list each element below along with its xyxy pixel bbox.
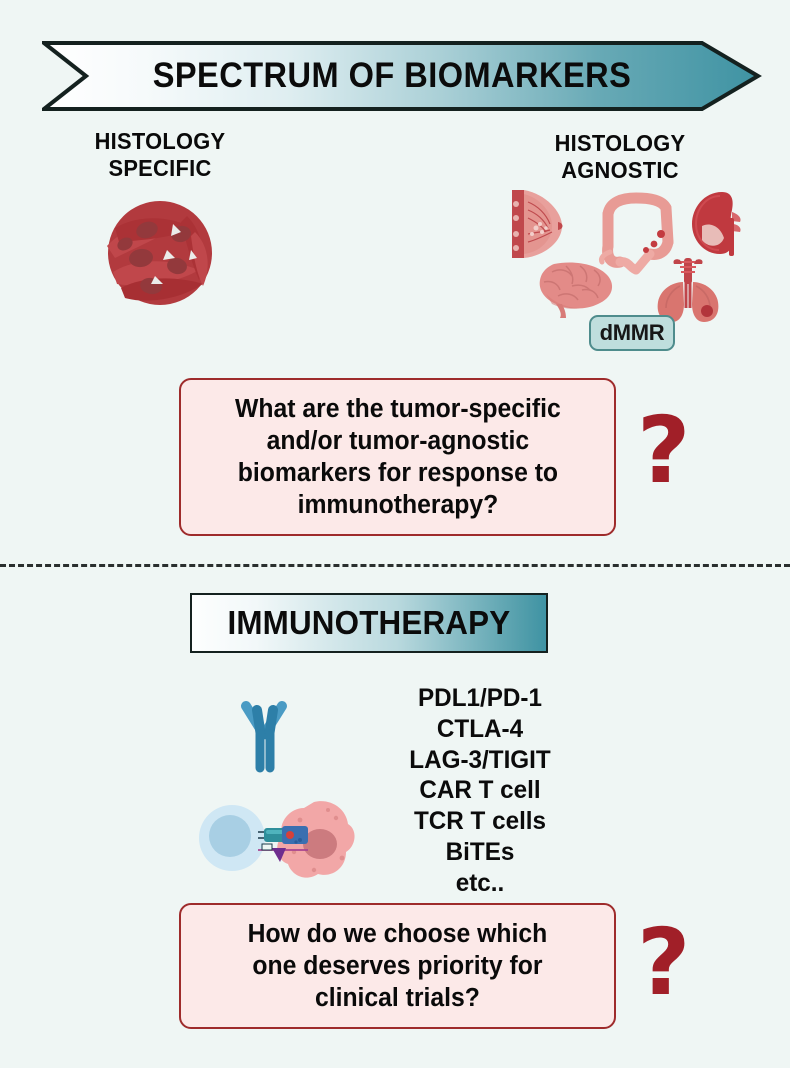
target-item: TCR T cells: [371, 806, 588, 837]
figure-canvas: SPECTRUM OF BIOMARKERS HISTOLOGY SPECIFI…: [0, 0, 790, 1068]
question-2-line-3: clinical trials?: [248, 982, 548, 1014]
question-box-biomarkers: What are the tumor-specific and/or tumor…: [179, 378, 616, 536]
histology-agnostic-label-line2: AGNOSTIC: [506, 157, 734, 184]
target-item: BiTEs: [371, 837, 588, 868]
question-2-line-2: one deserves priority for: [248, 950, 548, 982]
banner-title: SPECTRUM OF BIOMARKERS: [67, 40, 718, 112]
histology-specific-label: HISTOLOGY SPECIFIC: [46, 128, 274, 182]
target-item: etc..: [371, 868, 588, 899]
target-item: LAG-3/TIGIT: [371, 745, 588, 776]
brain-icon: [532, 260, 618, 320]
lungs-icon: [650, 256, 726, 324]
histology-specific-label-line1: HISTOLOGY: [46, 128, 274, 155]
dmmr-badge-label: dMMR: [600, 320, 665, 346]
immunotherapy-title: IMMUNOTHERAPY: [228, 604, 511, 642]
breast-icon: [508, 188, 566, 260]
target-item: CAR T cell: [371, 775, 588, 806]
question-box-trial-priority: How do we choose which one deserves prio…: [179, 903, 616, 1029]
antibody-icon: [228, 696, 300, 774]
dmmr-badge: dMMR: [589, 315, 675, 351]
question-1-line-4: immunotherapy?: [235, 489, 561, 521]
histology-agnostic-label-line1: HISTOLOGY: [506, 130, 734, 157]
histology-agnostic-label: HISTOLOGY AGNOSTIC: [506, 130, 734, 184]
car-t-cell-tumor-interaction-icon: [196, 790, 358, 882]
question-2-line-1: How do we choose which: [248, 918, 548, 950]
target-item: CTLA-4: [371, 714, 588, 745]
question-1-line-3: biomarkers for response to: [235, 457, 561, 489]
tumor-cell-cluster-icon: [95, 188, 225, 318]
immunotherapy-banner: IMMUNOTHERAPY: [190, 593, 548, 653]
immunotherapy-target-list: PDL1/PD-1 CTLA-4 LAG-3/TIGIT CAR T cell …: [368, 683, 592, 898]
question-1-line-2: and/or tumor-agnostic: [235, 425, 561, 457]
section-divider: [0, 564, 790, 567]
histology-specific-label-line2: SPECIFIC: [46, 155, 274, 182]
target-item: PDL1/PD-1: [371, 683, 588, 714]
question-mark-icon: ?: [637, 917, 690, 1009]
question-1-line-1: What are the tumor-specific: [235, 393, 561, 425]
kidney-icon: [688, 188, 750, 260]
question-mark-icon: ?: [637, 405, 690, 497]
